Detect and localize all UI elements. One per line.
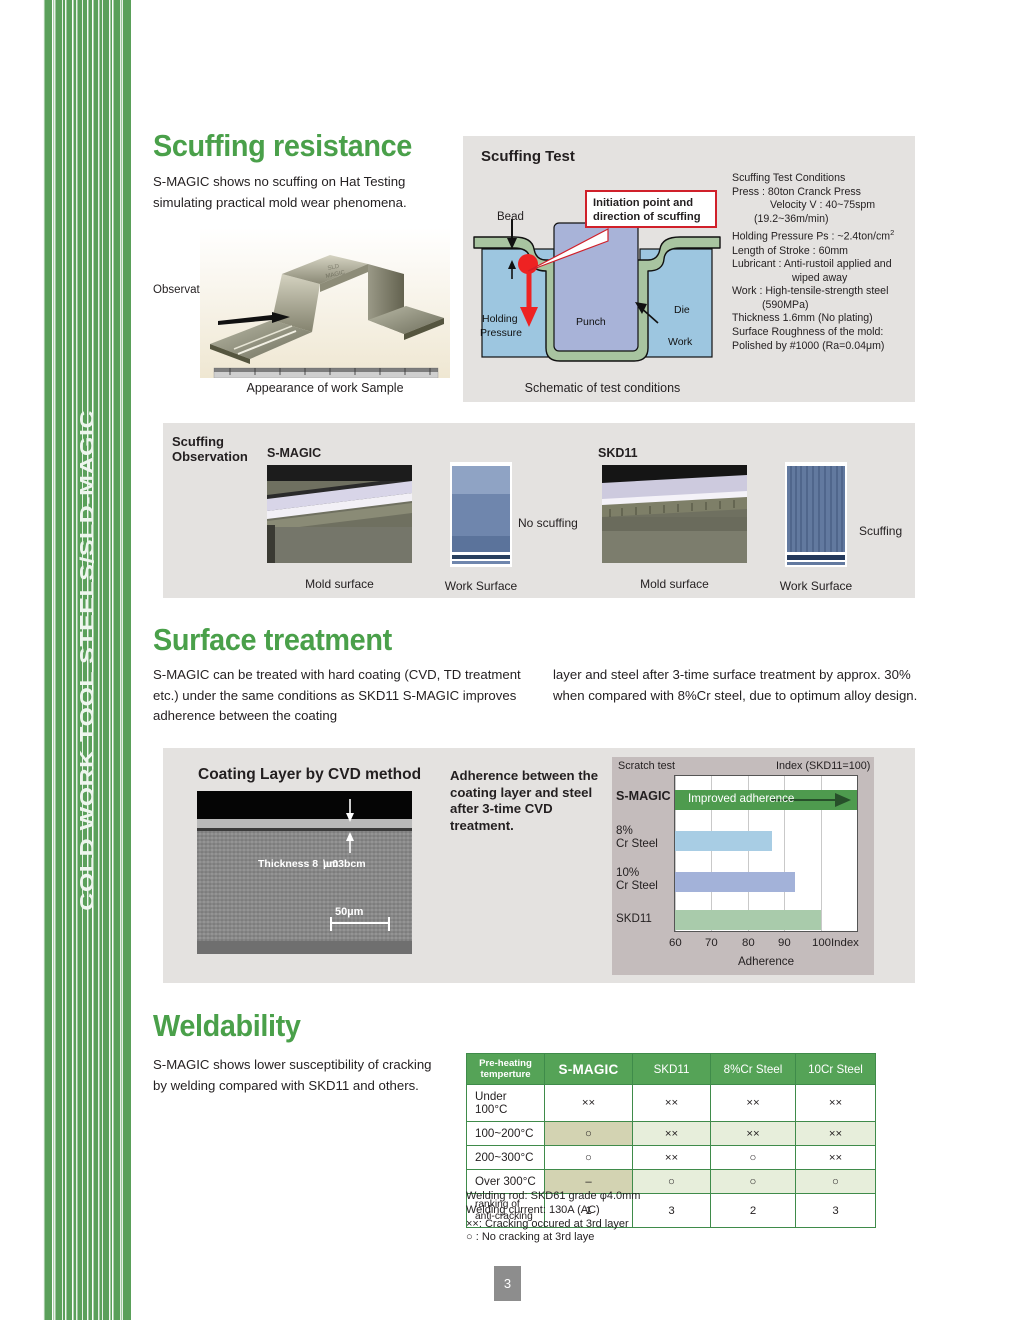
chart-xtick-100: 100 [812,937,831,949]
svg-text:Pressure: Pressure [480,327,522,339]
row-label-100-200: 100~200°C [467,1122,545,1146]
weldability-notes: Welding rod: SKD61 grade φ4.0mm Welding … [466,1190,640,1245]
cell-under100-10cr: ×× [796,1085,876,1122]
chart-annotation-improved-adherence: Improved adherence [688,792,794,805]
cell-100200-skd11: ×× [633,1122,711,1146]
table-header-row: Pre-heatingtemperture S-MAGIC SKD11 8%Cr… [467,1054,876,1085]
work-sample-caption: Appearance of work Sample [200,381,450,395]
conditions-heading: Scuffing Test Conditions [732,172,912,186]
section-title-scuffing-resistance: Scuffing resistance [153,128,412,164]
cell-under100-8cr: ×× [711,1085,796,1122]
sample-label-s-magic: S-MAGIC [267,446,321,460]
schematic-caption: Schematic of test conditions [480,381,725,395]
svg-text:Die: Die [674,304,690,316]
cell-200300-skd11: ×× [633,1146,711,1170]
cvd-coating-title: Coating Layer by CVD method [198,766,421,784]
sample-label-skd11: SKD11 [598,446,638,460]
chart-category-label-10-cr-steel: 10%Cr Steel [616,866,658,892]
weldability-paragraph: S-MAGIC shows lower susceptibility of cr… [153,1055,433,1096]
bar-10-cr-steel [675,872,795,892]
note-no-cracking-symbol: ○ : No cracking at 3rd laye [466,1231,640,1245]
chart-subtitle: Index (SKD11=100) [776,760,870,772]
table-row: 200~300°C ○ ×× ○ ×× [467,1146,876,1170]
cell-200300-s-magic: ○ [545,1146,633,1170]
cell-100200-8cr: ×× [711,1122,796,1146]
chart-category-label-s-magic: S-MAGIC [616,790,671,803]
condition-press: Press : 80ton Cranck Press [732,186,912,200]
condition-stroke: Length of Stroke : 60mm [732,245,912,259]
table-row: Under 100°C ×× ×× ×× ×× [467,1085,876,1122]
cvd-micrograph-photo: Thickness 8 \u03bcm µm 50µm [197,791,412,954]
row-label-200-300: 200~300°C [467,1146,545,1170]
svg-text:Thickness 8: Thickness 8 [258,858,318,870]
cell-100200-10cr: ×× [796,1122,876,1146]
note-cracking-symbol: ××: Cracking occured at 3rd layer [466,1218,640,1232]
chart-x-axis-title: Adherence [674,955,858,968]
note-welding-current: Welding current: 130A (AC) [466,1204,640,1218]
table-row: 100~200°C ○ ×× ×× ×× [467,1122,876,1146]
condition-velocity: Velocity V : 40~75spm [732,199,912,213]
callout-pointer-icon [520,225,610,280]
condition-holding-pressure: Holding Pressure Ps : ~2.4ton/cm2 [732,226,912,244]
work-surface-photo-skd11 [785,462,847,567]
note-welding-rod: Welding rod: SKD61 grade φ4.0mm [466,1190,640,1204]
cell-ranking-8cr: 2 [711,1194,796,1228]
condition-roughness: Surface Roughness of the mold: [732,326,912,340]
mold-surface-photo-skd11 [602,465,747,563]
column-header-skd11: SKD11 [633,1054,711,1085]
chart-xtick-90: 90 [778,937,791,949]
svg-text:Holding: Holding [482,313,518,325]
cell-over300-skd11: ○ [633,1170,711,1194]
page-content: Scuffing resistance S-MAGIC shows no scu… [0,0,1020,1320]
chart-title: Scratch test [618,760,675,772]
scuffing-test-conditions-list: Scuffing Test Conditions Press : 80ton C… [732,172,912,353]
section-title-weldability: Weldability [153,1008,301,1044]
cell-ranking-10cr: 3 [796,1194,876,1228]
chart-xtick-70: 70 [705,937,718,949]
chart-category-label-skd11: SKD11 [616,912,652,925]
row-label-under-100: Under 100°C [467,1085,545,1122]
cell-under100-s-magic: ×× [545,1085,633,1122]
chart-category-label-8-cr-steel: 8%Cr Steel [616,824,658,850]
adherence-description-title: Adherence between the coating layer and … [450,768,600,834]
bar-8-cr-steel [675,831,772,851]
cell-100200-s-magic: ○ [545,1122,633,1146]
result-note-s-magic: No scuffing [518,516,578,530]
column-header-preheating: Pre-heatingtemperture [467,1054,545,1085]
result-note-skd11: Scuffing [859,524,902,538]
chart-xtick-80: 80 [742,937,755,949]
scuffing-observation-title: ScuffingObservation [172,434,248,464]
work-surface-caption-skd11: Work Surface [775,579,857,593]
condition-lubricant: Lubricant : Anti-rustoil applied and [732,258,912,272]
condition-thickness: Thickness 1.6mm (No plating) [732,312,912,326]
cell-200300-8cr: ○ [711,1146,796,1170]
page-number: 3 [494,1266,521,1301]
condition-polish: Polished by #1000 (Ra=0.04μm) [732,340,912,354]
svg-text:Work: Work [668,336,693,348]
chart-xtick-60: 60 [669,937,682,949]
column-header-s-magic: S-MAGIC [545,1054,633,1085]
observation-direction-arrow-icon [218,312,290,326]
column-header-8cr-steel: 8%Cr Steel [711,1054,796,1085]
condition-lubricant-cont: wiped away [732,272,912,286]
scuffing-intro-paragraph: S-MAGIC shows no scuffing on Hat Testing… [153,172,418,213]
mold-surface-photo-s-magic [267,465,412,563]
svg-text:Punch: Punch [576,316,606,328]
section-title-surface-treatment: Surface treatment [153,622,392,658]
mold-surface-caption-skd11: Mold surface [602,577,747,591]
cell-200300-10cr: ×× [796,1146,876,1170]
work-surface-photo-s-magic [450,462,512,567]
bead-label: Bead [497,211,524,223]
scuffing-initiation-callout: Initiation point and direction of scuffi… [585,190,717,228]
condition-work: Work : High-tensile-strength steel [732,285,912,299]
bar-skd11 [675,910,821,930]
mold-surface-caption-s-magic: Mold surface [267,577,412,591]
condition-work-strength: (590MPa) [732,299,912,313]
work-sample-photo: SLD MAGIC [200,228,450,378]
chart-xtick-index: Index [831,937,859,949]
work-surface-caption-s-magic: Work Surface [440,579,522,593]
cell-over300-10cr: ○ [796,1170,876,1194]
surface-treatment-paragraph-right: layer and steel after 3-time surface tre… [553,665,918,706]
scuffing-test-title: Scuffing Test [481,148,575,165]
column-header-10cr-steel: 10Cr Steel [796,1054,876,1085]
cell-under100-skd11: ×× [633,1085,711,1122]
cell-ranking-skd11: 3 [633,1194,711,1228]
svg-text:µm: µm [323,858,338,870]
condition-velocity-metric: (19.2~36m/min) [732,213,912,227]
svg-text:50µm: 50µm [335,906,364,918]
cell-over300-8cr: ○ [711,1170,796,1194]
surface-treatment-paragraph-left: S-MAGIC can be treated with hard coating… [153,665,538,727]
